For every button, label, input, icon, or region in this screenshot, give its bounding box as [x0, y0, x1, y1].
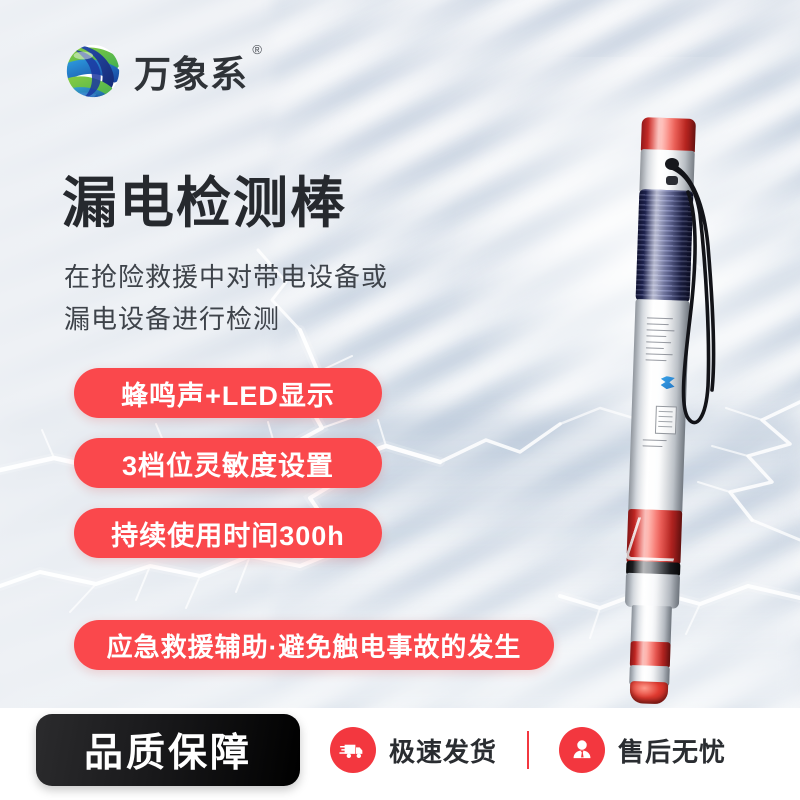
- brand-name-text: 万象系: [134, 54, 248, 95]
- feature-pill-1-label: 蜂鸣声+LED显示: [121, 374, 335, 413]
- support-person-icon: [559, 727, 605, 773]
- brand-swoosh-mark: [624, 517, 687, 561]
- background-left-haze: [0, 0, 352, 712]
- brand-logo: 万象系 ®: [62, 40, 248, 102]
- feature-banner-label: 应急救援辅助·避免触电事故的发生: [107, 627, 522, 664]
- rod-white-body: [628, 299, 689, 515]
- globe-swirl-logo-icon: [62, 40, 124, 102]
- quality-guarantee-badge: 品质保障: [36, 714, 300, 786]
- service-guarantees: 极速发货 售后无忧: [330, 720, 726, 780]
- feature-pill-2: 3档位灵敏度设置: [74, 438, 382, 488]
- grip-ribs: [636, 189, 694, 303]
- subtitle-line-2: 漏电设备进行检测: [64, 298, 388, 340]
- feature-banner: 应急救援辅助·避免触电事故的发生: [74, 620, 554, 670]
- rod-red-cap: [641, 117, 696, 153]
- rod-navy-grip: [636, 189, 694, 303]
- rod-upper-white-neck: [639, 149, 695, 195]
- rod-probe-shaft: [631, 605, 672, 646]
- rod-led-lens: [630, 681, 669, 704]
- page-title: 漏电检测棒: [62, 158, 347, 238]
- product-image: [612, 118, 732, 678]
- service-fast-shipping: 极速发货: [330, 727, 497, 773]
- registered-trademark-mark: ®: [252, 42, 263, 57]
- service-divider: [527, 731, 529, 769]
- feature-pill-3-label: 持续使用时间300h: [111, 514, 345, 553]
- quality-guarantee-label: 品质保障: [84, 722, 252, 778]
- detector-rod: [622, 117, 696, 679]
- service-fast-shipping-label: 极速发货: [389, 732, 497, 769]
- rod-red-band: [626, 509, 682, 565]
- feature-pill-3: 持续使用时间300h: [74, 508, 382, 558]
- feature-pill-1: 蜂鸣声+LED显示: [74, 368, 382, 418]
- service-after-sales-label: 售后无忧: [618, 732, 726, 769]
- rod-white-collar: [625, 573, 680, 609]
- subtitle-line-1: 在抢险救援中对带电设备或: [64, 256, 388, 298]
- product-poster: 万象系 ® 漏电检测棒 在抢险救援中对带电设备或 漏电设备进行检测 蜂鸣声+LE…: [0, 0, 800, 800]
- brand-name: 万象系 ®: [134, 44, 248, 98]
- delivery-truck-icon: [330, 727, 376, 773]
- feature-pill-2-label: 3档位灵敏度设置: [122, 444, 334, 483]
- service-after-sales: 售后无忧: [559, 727, 726, 773]
- page-subtitle: 在抢险救援中对带电设备或 漏电设备进行检测: [64, 256, 388, 340]
